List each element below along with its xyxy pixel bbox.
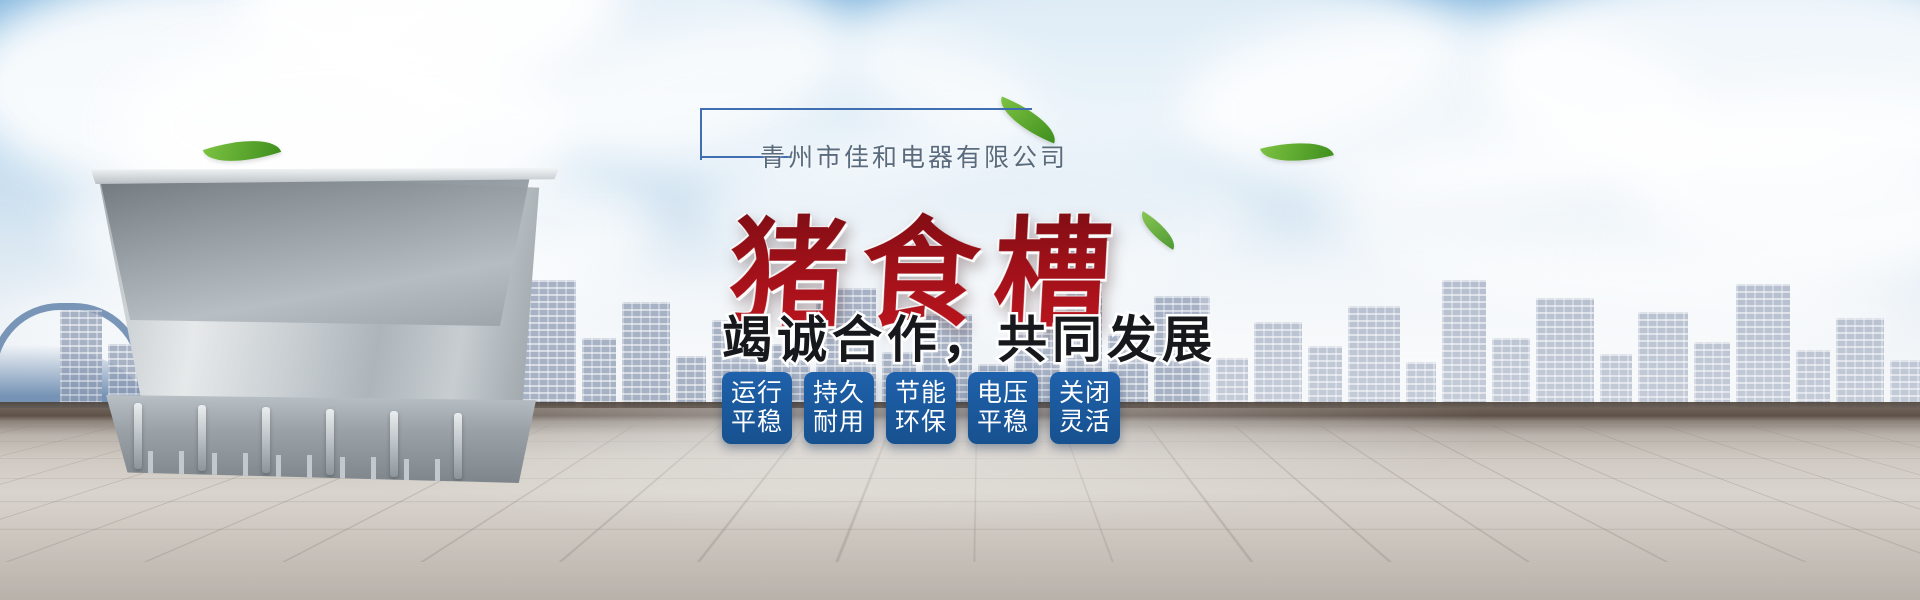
- badge-line-1: 电压: [977, 379, 1029, 409]
- badge-line-2: 耐用: [813, 408, 865, 438]
- feature-badge[interactable]: 运行 平稳: [722, 372, 792, 444]
- badge-line-1: 运行: [731, 379, 783, 409]
- company-name: 青州市佳和电器有限公司: [760, 138, 1400, 174]
- badge-line-1: 持久: [813, 379, 865, 409]
- company-frame: 青州市佳和电器有限公司: [700, 100, 1400, 176]
- badge-line-1: 节能: [895, 379, 947, 409]
- subtitle-slogan: 竭诚合作，共同发展: [722, 300, 1217, 372]
- product-image-trough: [70, 150, 590, 470]
- feature-badge-list: 运行 平稳 持久 耐用 节能 环保 电压 平稳 关闭 灵活: [722, 372, 1120, 444]
- trough-inner-wall: [100, 176, 530, 326]
- badge-line-2: 平稳: [731, 408, 783, 438]
- badge-line-2: 灵活: [1059, 408, 1111, 438]
- feature-badge[interactable]: 节能 环保: [886, 372, 956, 444]
- banner-copy-block: 青州市佳和电器有限公司 猪食槽 竭诚合作，共同发展 运行 平稳 持久 耐用 节能…: [700, 100, 1400, 560]
- promo-banner: 青州市佳和电器有限公司 猪食槽 竭诚合作，共同发展 运行 平稳 持久 耐用 节能…: [0, 0, 1920, 600]
- frame-top-line: [700, 108, 1030, 110]
- feature-badge[interactable]: 电压 平稳: [968, 372, 1038, 444]
- badge-line-2: 平稳: [977, 408, 1029, 438]
- badge-line-1: 关闭: [1059, 379, 1111, 409]
- trough-front-panel: [106, 395, 536, 483]
- feature-badge[interactable]: 持久 耐用: [804, 372, 874, 444]
- badge-line-2: 环保: [895, 408, 947, 438]
- feature-badge[interactable]: 关闭 灵活: [1050, 372, 1120, 444]
